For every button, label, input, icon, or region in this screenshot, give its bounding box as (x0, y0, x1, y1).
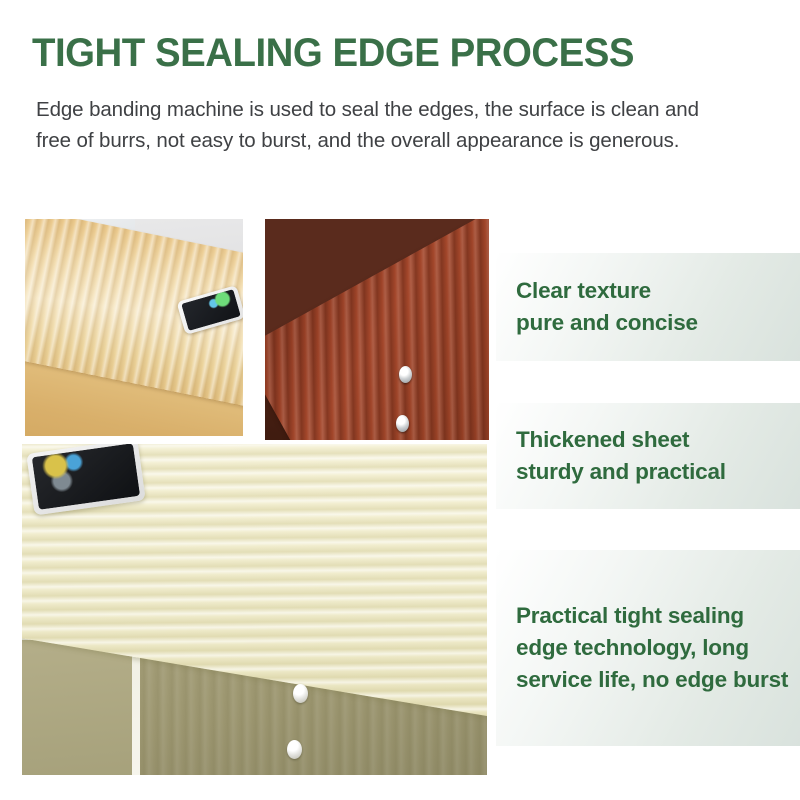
screw-cap-icon (293, 684, 308, 703)
feature-label-thickened-sheet: Thickened sheet sturdy and practical (496, 424, 736, 488)
photo-cream-wood-desk (22, 444, 487, 775)
feature-panel-clear-texture: Clear texture pure and concise (496, 253, 800, 361)
feature-label-clear-texture: Clear texture pure and concise (496, 275, 708, 339)
desk-leg (22, 640, 132, 775)
feature-panel-thickened-sheet: Thickened sheet sturdy and practical (496, 403, 800, 509)
feature-label-sealing-technology: Practical tight sealing edge technology,… (496, 600, 800, 696)
photo-dark-wood-desk (265, 219, 489, 440)
page-title: TIGHT SEALING EDGE PROCESS (32, 31, 634, 75)
screw-cap-icon (399, 366, 412, 383)
feature-panel-sealing-technology: Practical tight sealing edge technology,… (496, 550, 800, 746)
page-subtitle: Edge banding machine is used to seal the… (36, 94, 726, 156)
screw-cap-icon (287, 740, 302, 759)
screw-cap-icon (396, 415, 409, 432)
photo-light-wood-desk (25, 219, 243, 436)
